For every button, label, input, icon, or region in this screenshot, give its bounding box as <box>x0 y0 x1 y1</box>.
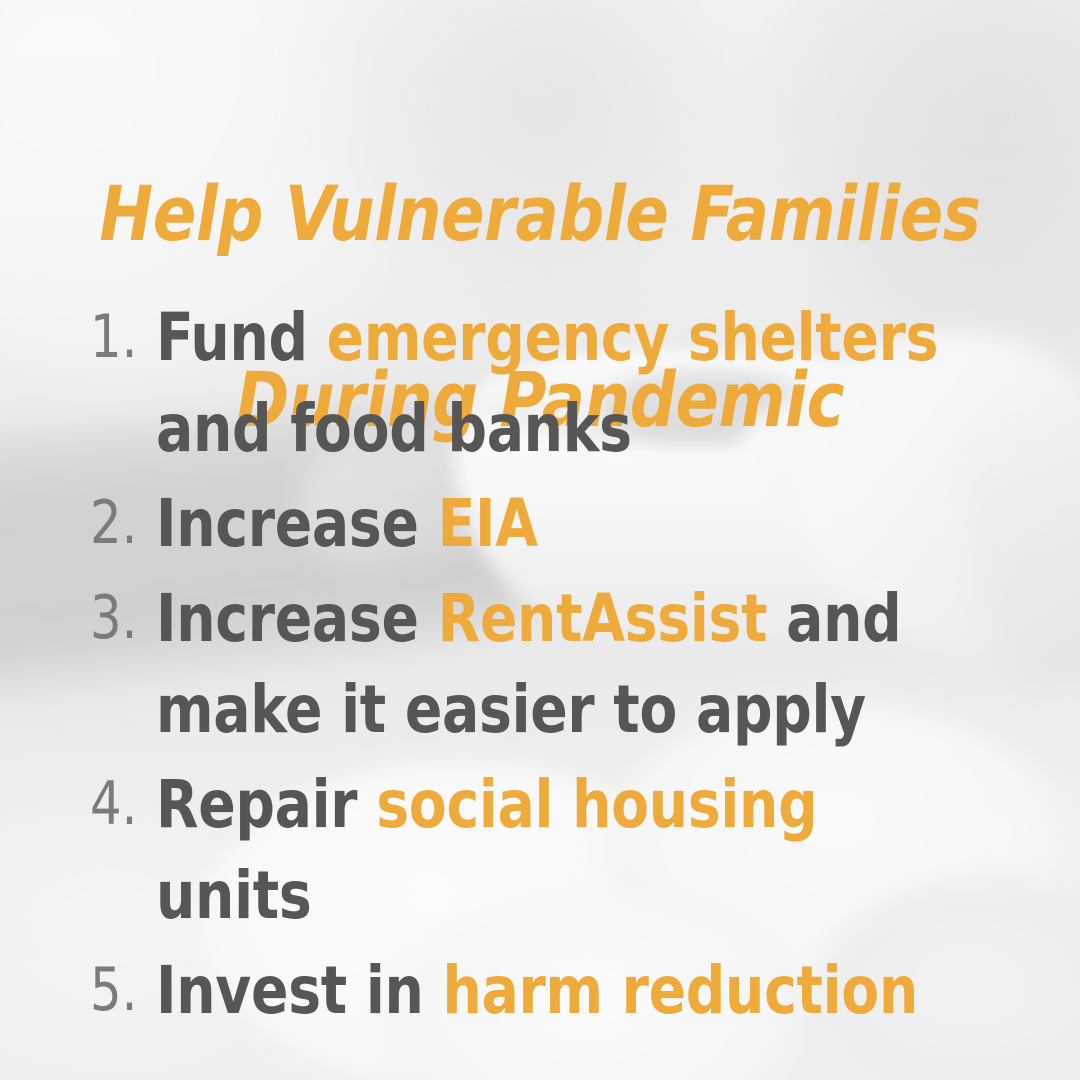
list-item-highlight: RentAssist <box>438 580 768 657</box>
list-item-plain: Fund <box>156 299 327 376</box>
list-item-highlight: emergency shelters <box>327 299 939 376</box>
list-item-highlight: EIA <box>438 485 538 562</box>
poster-content: Help Vulnerable Families During Pandemic… <box>0 0 1080 1080</box>
list-item-number: 1. <box>90 292 151 383</box>
list-item-plain: Repair <box>156 766 376 843</box>
list-item: 2.Increase EIA <box>90 478 1020 569</box>
list-item-number: 5. <box>90 945 151 1036</box>
list-item-text: Fund emergency shelters and food banks <box>156 292 960 474</box>
list-item-text: Increase EIA <box>156 478 960 569</box>
list-item-number: 2. <box>90 478 151 569</box>
list-item-plain: and food banks <box>156 390 632 467</box>
list-item-text: Increase RentAssist and make it easier t… <box>156 573 960 755</box>
list-item-text: Repair social housing units <box>156 759 960 941</box>
demand-list: 1.Fund emergency shelters and food banks… <box>90 292 1020 1040</box>
list-item-highlight: social housing <box>376 766 817 843</box>
list-item: 5.Invest in harm reduction <box>90 945 1020 1036</box>
list-item-plain: Increase <box>156 485 438 562</box>
list-item-number: 4. <box>90 759 151 850</box>
list-item-highlight: harm reduction <box>442 952 918 1029</box>
poster-title-line-1: Help Vulnerable Families <box>32 167 1047 260</box>
list-item: 3.Increase RentAssist and make it easier… <box>90 573 1020 755</box>
list-item: 1.Fund emergency shelters and food banks <box>90 292 1020 474</box>
list-item: 4.Repair social housing units <box>90 759 1020 941</box>
poster-canvas: Help Vulnerable Families During Pandemic… <box>0 0 1080 1080</box>
list-item-number: 3. <box>90 573 151 664</box>
list-item-plain: units <box>156 857 311 934</box>
list-item-text: Invest in harm reduction <box>156 945 960 1036</box>
list-item-plain: Invest in <box>156 952 442 1029</box>
list-item-plain: Increase <box>156 580 438 657</box>
